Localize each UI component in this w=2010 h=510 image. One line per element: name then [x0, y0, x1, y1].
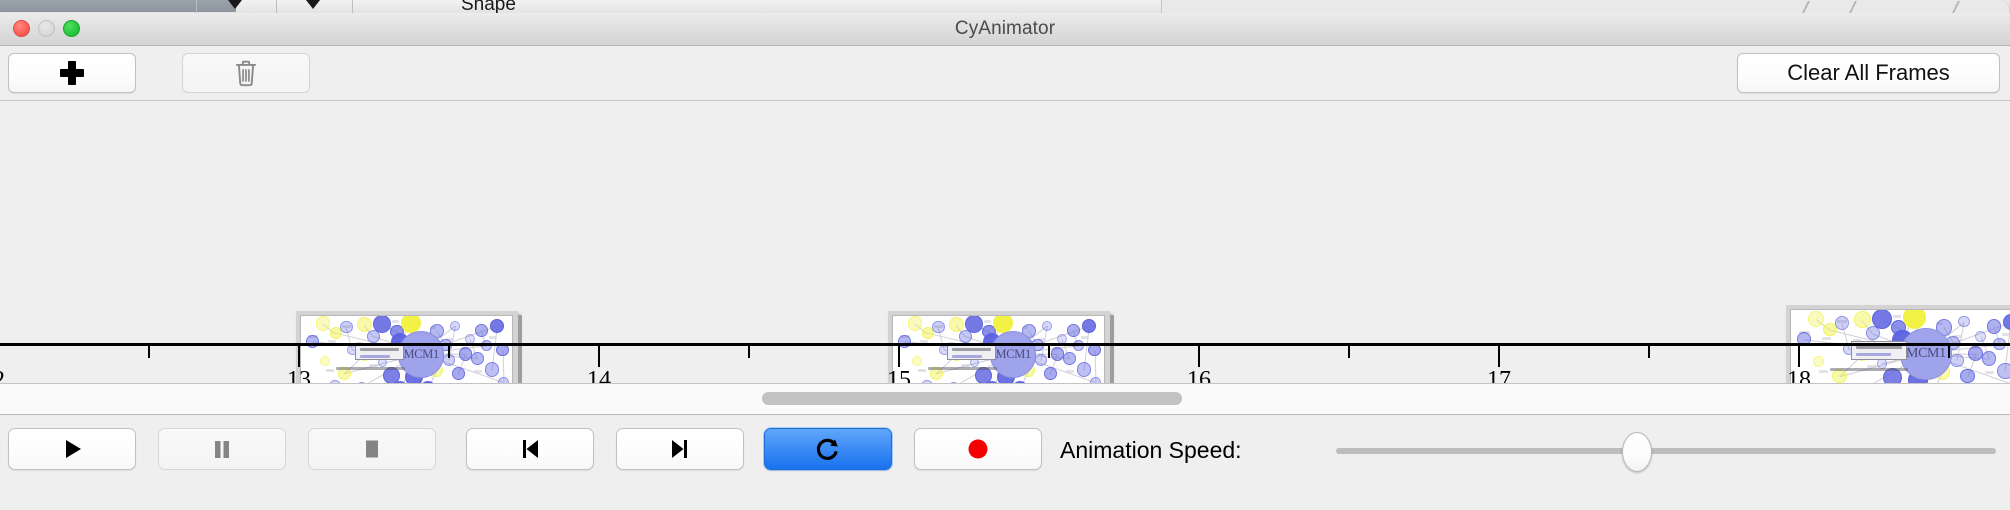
- ruler-tick-major-15: [898, 346, 900, 367]
- ruler-tick-label-15: 15: [887, 367, 911, 384]
- ruler-tick-label-13: 13: [287, 367, 311, 384]
- skip-back-icon: [517, 436, 543, 462]
- horizontal-scrollbar-thumb[interactable]: [762, 392, 1182, 405]
- background-slash-2: [1849, 1, 1857, 13]
- loop-button[interactable]: [764, 428, 892, 470]
- ruler-tick-minor-6: [1948, 346, 1950, 358]
- ruler-tick-minor-0: [148, 346, 150, 358]
- background-desktop-strip: Shape: [0, 0, 2010, 14]
- background-panel-b: [356, 0, 462, 14]
- record-button[interactable]: [914, 428, 1042, 470]
- trash-icon: [233, 59, 259, 87]
- ruler-tick-major-16: [1198, 346, 1200, 367]
- horizontal-scrollbar-track[interactable]: [0, 384, 2010, 415]
- graph-node: [1854, 311, 1871, 328]
- background-divider-1: [196, 0, 197, 14]
- graph-node-label: [984, 320, 991, 323]
- background-window-corner: [1996, 0, 2010, 14]
- ruler-tick-label-14: 14: [587, 367, 611, 384]
- background-divider-2: [276, 0, 277, 14]
- graph-node: [1067, 324, 1080, 337]
- graph-node-label: [2002, 333, 2010, 336]
- ruler-tick-label-18: 18: [1787, 367, 1811, 384]
- graph-node-label: [1081, 336, 1088, 339]
- ruler-baseline: [0, 343, 2010, 346]
- speed-slider-track[interactable]: [1336, 448, 1996, 454]
- skip-to-end-button[interactable]: [616, 428, 744, 470]
- skip-fwd-icon: [667, 436, 693, 462]
- graph-node: [1082, 319, 1096, 333]
- stop-button[interactable]: [308, 428, 436, 470]
- background-slash-3: [1952, 1, 1960, 13]
- frame-thumbnails-layer: MCM1MCM1MCM1: [0, 101, 2010, 343]
- ruler-tick-major-18: [1798, 346, 1800, 367]
- ruler-tick-major-14: [598, 346, 600, 367]
- graph-node: [1903, 309, 1926, 329]
- play-button[interactable]: [8, 428, 136, 470]
- ruler-tick-minor-2: [748, 346, 750, 358]
- pause-icon: [210, 436, 234, 462]
- graph-node: [1808, 311, 1824, 327]
- cyanimator-window: CyAnimator Clear All Frames MCM1MCM1MCM1…: [0, 13, 2010, 510]
- loop-icon: [814, 435, 842, 463]
- transport-bar: Animation Speed:: [0, 415, 2010, 485]
- graph-node: [373, 315, 391, 333]
- graph-node: [908, 316, 922, 330]
- background-caret-icon-2: [306, 0, 320, 9]
- ruler-tick-minor-1: [448, 346, 450, 358]
- add-frame-button[interactable]: [8, 53, 136, 93]
- pause-button[interactable]: [158, 428, 286, 470]
- graph-node: [1835, 316, 1849, 330]
- graph-node: [1987, 319, 2001, 333]
- record-icon: [965, 436, 991, 462]
- play-icon: [59, 436, 85, 462]
- window-titlebar[interactable]: CyAnimator: [0, 13, 2010, 46]
- background-slash-1: [1802, 1, 1810, 13]
- graph-node: [1975, 331, 1986, 342]
- ruler-tick-minor-5: [1648, 346, 1650, 358]
- graph-node: [965, 315, 983, 333]
- ruler-tick-major-17: [1498, 346, 1500, 367]
- graph-node: [1872, 309, 1892, 329]
- background-panel-c: [461, 0, 1162, 14]
- delete-frame-button[interactable]: [182, 53, 310, 93]
- graph-node: [1958, 316, 1969, 327]
- stop-icon: [360, 436, 384, 462]
- graph-node-label: [1893, 315, 1901, 318]
- background-shape-label: Shape: [461, 0, 516, 14]
- graph-node: [450, 321, 460, 331]
- ruler-tick-major-13: [298, 346, 300, 367]
- graph-node: [475, 324, 488, 337]
- graph-node: [490, 319, 504, 333]
- background-titlebar-fragment: [0, 0, 236, 12]
- frame-toolbar: Clear All Frames: [0, 46, 2010, 101]
- graph-node: [2003, 314, 2010, 330]
- graph-node: [401, 315, 421, 333]
- graph-node: [1042, 321, 1052, 331]
- timeline-ruler: 2131415161718 Seconds: [0, 343, 2010, 383]
- ruler-tick-minor-4: [1348, 346, 1350, 358]
- animation-speed-label: Animation Speed:: [1060, 437, 1242, 464]
- background-window-panel-dark: [0, 0, 237, 14]
- ruler-tick-label-12: 2: [0, 367, 5, 384]
- skip-to-start-button[interactable]: [466, 428, 594, 470]
- speed-slider-thumb[interactable]: [1622, 432, 1652, 472]
- graph-node: [993, 315, 1013, 333]
- background-caret-icon: [228, 0, 242, 9]
- ruler-tick-minor-3: [1048, 346, 1050, 358]
- graph-node: [932, 321, 945, 334]
- graph-node-label: [392, 320, 399, 323]
- graph-node-label: [1822, 337, 1831, 340]
- timeline-panel[interactable]: MCM1MCM1MCM1 2131415161718 Seconds: [0, 101, 2010, 384]
- background-divider-3: [352, 0, 353, 14]
- ruler-tick-label-17: 17: [1487, 367, 1511, 384]
- graph-node-label: [489, 336, 496, 339]
- graph-node: [340, 321, 353, 334]
- clear-all-frames-button[interactable]: Clear All Frames: [1737, 53, 2000, 93]
- graph-node: [316, 316, 330, 330]
- background-panel-a: [236, 0, 357, 14]
- plus-icon: [59, 60, 85, 86]
- animation-speed-slider[interactable]: [1336, 443, 1996, 457]
- window-title: CyAnimator: [0, 13, 2010, 45]
- ruler-tick-label-16: 16: [1187, 367, 1211, 384]
